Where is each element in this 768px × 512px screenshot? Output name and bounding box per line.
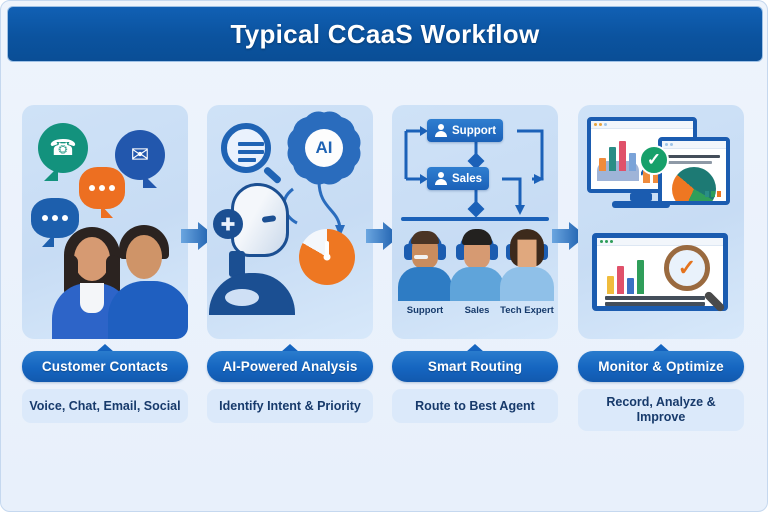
stage-1-description: Voice, Chat, Email, Social xyxy=(29,399,180,414)
window-titlebar xyxy=(591,121,693,129)
queue-label-sales: Sales xyxy=(452,173,482,185)
pie-chart-window-icon xyxy=(658,137,730,205)
stage-1-illustration: ☎ ✉ xyxy=(22,105,188,339)
ai-gear-hub: AI xyxy=(305,129,343,167)
orange-check-glyph: ✓ xyxy=(678,257,696,279)
stage-3-illustration: Support Sales xyxy=(392,105,558,339)
robot-eye xyxy=(262,215,277,223)
stage-1-label-pill[interactable]: Customer Contacts xyxy=(22,351,188,382)
stage-2-illustration: AI xyxy=(207,105,373,339)
routing-divider xyxy=(401,217,549,221)
chat-bubble-icon xyxy=(79,167,125,209)
typing-bubble-icon xyxy=(31,198,79,238)
stage-3-pill[interactable]: Smart Routing xyxy=(392,351,558,382)
legend-dots xyxy=(705,191,721,197)
robot-chest-plate xyxy=(225,289,259,306)
window-titlebar xyxy=(597,238,723,246)
monitor-neck xyxy=(630,193,652,201)
stage-3-description: Route to Best Agent xyxy=(415,399,535,414)
stage-monitor-optimize[interactable]: ✓ ✓ xyxy=(578,105,744,431)
queue-box-support[interactable]: Support xyxy=(427,119,503,142)
stage-1-label: Customer Contacts xyxy=(42,359,168,374)
stage-4-description-box: Record, Analyze & Improve xyxy=(578,389,744,431)
ai-gear-text: AI xyxy=(316,138,333,158)
agent-label-tech-expert: Tech Expert xyxy=(496,305,558,316)
ccaas-workflow-infographic: Typical CCaaS Workflow ☎ ✉ xyxy=(0,0,768,512)
chat-dots-glyph xyxy=(79,167,125,209)
bar-chart-glyph xyxy=(599,141,636,171)
stage-4-description: Record, Analyze & Improve xyxy=(582,395,740,425)
stage-customer-contacts[interactable]: ☎ ✉ xyxy=(22,105,188,423)
pie-chart-glyph xyxy=(672,167,716,205)
stage-4-label-pill[interactable]: Monitor & Optimize xyxy=(578,351,744,382)
person-icon xyxy=(434,124,447,137)
window-titlebar xyxy=(662,141,726,149)
stage-3-label: Smart Routing xyxy=(428,359,522,374)
page-title: Typical CCaaS Workflow xyxy=(230,19,539,50)
stage-smart-routing[interactable]: Support Sales xyxy=(392,105,558,423)
stage-2-pill[interactable]: AI-Powered Analysis xyxy=(207,351,373,382)
stage-2-description: Identify Intent & Priority xyxy=(219,399,361,414)
person-icon xyxy=(434,172,447,185)
queue-label-support: Support xyxy=(452,125,496,137)
header-banner: Typical CCaaS Workflow xyxy=(7,6,763,62)
robot-ear-gear-icon xyxy=(213,209,243,239)
bar-chart-glyph xyxy=(607,260,644,294)
stage-3-description-box: Route to Best Agent xyxy=(392,389,558,423)
stage-4-label: Monitor & Optimize xyxy=(598,359,724,374)
stage-1-description-box: Voice, Chat, Email, Social xyxy=(22,389,188,423)
stage-ai-powered-analysis[interactable]: AI AI-Powered A xyxy=(207,105,373,423)
stage-1-pill[interactable]: Customer Contacts xyxy=(22,351,188,382)
typing-dots-glyph xyxy=(31,198,79,238)
check-badge-icon: ✓ xyxy=(639,145,669,175)
clock-hub xyxy=(324,254,331,261)
phone-glyph: ☎ xyxy=(38,123,88,173)
stage-2-description-box: Identify Intent & Priority xyxy=(207,389,373,423)
queue-box-sales[interactable]: Sales xyxy=(427,167,489,190)
phone-bubble-icon: ☎ xyxy=(38,123,88,173)
stage-2-label-pill[interactable]: AI-Powered Analysis xyxy=(207,351,373,382)
stage-2-label: AI-Powered Analysis xyxy=(223,359,358,374)
stage-4-pill[interactable]: Monitor & Optimize xyxy=(578,351,744,382)
pie-clock-icon xyxy=(299,229,355,285)
stage-3-label-pill[interactable]: Smart Routing xyxy=(392,351,558,382)
stage-4-illustration: ✓ ✓ xyxy=(578,105,744,339)
